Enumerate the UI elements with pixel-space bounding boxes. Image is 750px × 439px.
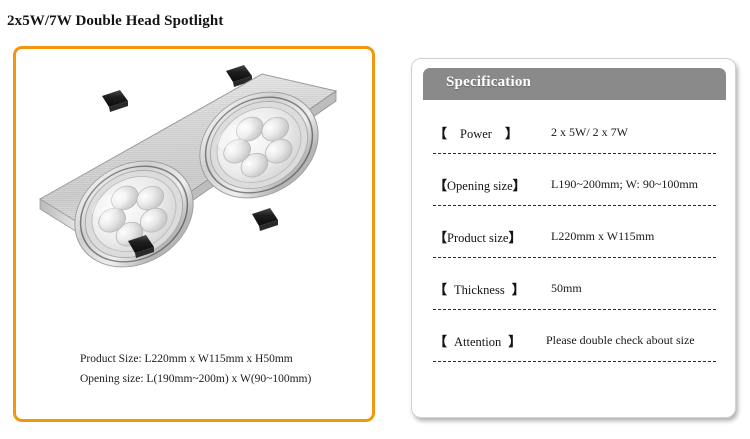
bracket-close-icon: 】 bbox=[505, 126, 518, 141]
bracket-close-icon: 】 bbox=[508, 230, 521, 245]
spec-label-attention: 【Attention】 bbox=[434, 331, 554, 350]
spec-label-thickness: 【Thickness】 bbox=[434, 279, 554, 298]
specification-panel: Specification 【Power】 2 x 5W/ 2 x 7W 【Op… bbox=[411, 58, 736, 418]
bracket-close-icon: 】 bbox=[508, 334, 521, 349]
spring-clip-rear-left bbox=[102, 90, 128, 112]
spec-label-text: Thickness bbox=[447, 283, 512, 297]
spec-value-opening-size: L190~200mm; W: 90~100mm bbox=[551, 177, 698, 192]
spec-row-separator bbox=[433, 257, 716, 258]
spec-row-product-size: 【Product size】 L220mm x W115mm bbox=[412, 212, 735, 264]
spec-value-power: 2 x 5W/ 2 x 7W bbox=[551, 125, 628, 140]
bracket-open-icon: 【 bbox=[434, 178, 447, 193]
spec-row-thickness: 【Thickness】 50mm bbox=[412, 264, 735, 316]
bracket-close-icon: 】 bbox=[512, 282, 525, 297]
bracket-open-icon: 【 bbox=[434, 126, 447, 141]
spec-label-text: Attention bbox=[447, 335, 508, 349]
spec-row-separator bbox=[433, 361, 716, 362]
product-image-card: Product Size: L220mm x W115mm x H50mm Op… bbox=[13, 46, 375, 422]
product-caption-block: Product Size: L220mm x W115mm x H50mm Op… bbox=[80, 349, 370, 389]
spec-value-product-size: L220mm x W115mm bbox=[551, 229, 654, 244]
spec-row-separator bbox=[433, 205, 716, 206]
bracket-close-icon: 】 bbox=[513, 178, 526, 193]
spec-row-attention: 【Attention】 Please double check about si… bbox=[412, 316, 735, 368]
specification-header-bar: Specification bbox=[423, 68, 726, 100]
spec-value-thickness: 50mm bbox=[551, 281, 582, 296]
spec-row-separator bbox=[433, 153, 716, 154]
bracket-open-icon: 【 bbox=[434, 282, 447, 297]
page-title: 2x5W/7W Double Head Spotlight bbox=[7, 13, 223, 30]
spec-label-text: Power bbox=[447, 127, 505, 141]
spec-row-separator bbox=[433, 309, 716, 310]
spec-row-power: 【Power】 2 x 5W/ 2 x 7W bbox=[412, 108, 735, 160]
spec-value-attention: Please double check about size bbox=[546, 333, 695, 348]
spec-label-text: Product size bbox=[447, 231, 508, 245]
product-photo bbox=[16, 49, 372, 339]
spec-label-text: Opening size bbox=[447, 179, 513, 193]
caption-opening-size: Opening size: L(190mm~200m) x W(90~100mm… bbox=[80, 369, 370, 389]
double-head-spotlight-illustration bbox=[16, 49, 372, 339]
bracket-open-icon: 【 bbox=[434, 334, 447, 349]
spec-label-product-size: 【Product size】 bbox=[434, 227, 554, 246]
caption-product-size: Product Size: L220mm x W115mm x H50mm bbox=[80, 349, 370, 369]
bracket-open-icon: 【 bbox=[434, 230, 447, 245]
specification-title: Specification bbox=[446, 74, 531, 91]
spec-label-opening-size: 【Opening size】 bbox=[434, 175, 554, 194]
specification-rows: 【Power】 2 x 5W/ 2 x 7W 【Opening size】 L1… bbox=[412, 108, 735, 368]
spring-clip-front-right bbox=[252, 208, 278, 231]
spec-label-power: 【Power】 bbox=[434, 123, 554, 142]
spec-row-opening-size: 【Opening size】 L190~200mm; W: 90~100mm bbox=[412, 160, 735, 212]
